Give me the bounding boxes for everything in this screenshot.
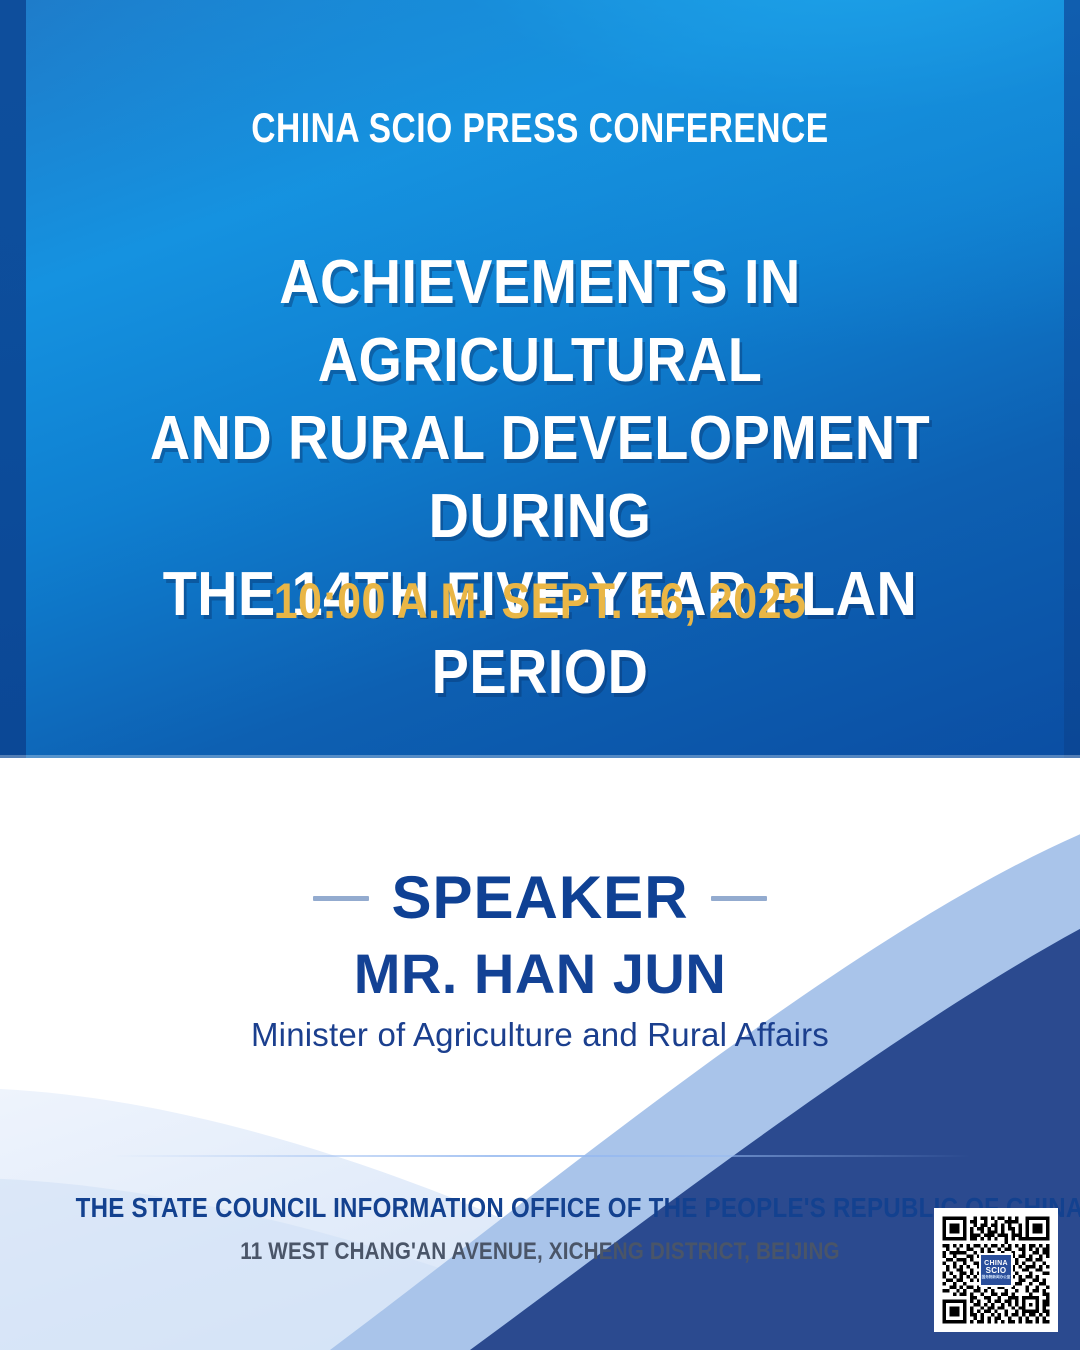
speaker-label: SPEAKER (391, 866, 688, 930)
event-kicker: CHINA SCIO PRESS CONFERENCE (108, 104, 972, 152)
dash-left-icon (313, 896, 369, 901)
event-datetime: 10:00 A.M. SEPT. 16, 2025 (76, 572, 1005, 630)
headline-line-1: ACHIEVEMENTS IN AGRICULTURAL (54, 244, 1026, 400)
qr-logo-line-3: 国务院新闻办公室 (982, 1276, 1011, 1280)
speaker-section: SPEAKER MR. HAN JUN Minister of Agricult… (0, 866, 1080, 1054)
footer-divider (110, 1155, 970, 1157)
headline-line-2: AND RURAL DEVELOPMENT DURING (54, 400, 1026, 556)
press-conference-poster: CHINA SCIO PRESS CONFERENCE ACHIEVEMENTS… (0, 0, 1080, 1350)
qr-logo-line-2: SCIO (986, 1267, 1007, 1275)
speaker-heading-row: SPEAKER (0, 866, 1080, 930)
organization-name: THE STATE COUNCIL INFORMATION OFFICE OF … (76, 1192, 1005, 1224)
organization-address: 11 WEST CHANG'AN AVENUE, XICHENG DISTRIC… (76, 1238, 1005, 1266)
footer-section: THE STATE COUNCIL INFORMATION OFFICE OF … (0, 1192, 1080, 1266)
qr-code-canvas: CHINA SCIO 国务院新闻办公室 (939, 1213, 1053, 1327)
hero-panel: CHINA SCIO PRESS CONFERENCE ACHIEVEMENTS… (0, 0, 1080, 758)
speaker-title: Minister of Agriculture and Rural Affair… (0, 1016, 1080, 1054)
speaker-name: MR. HAN JUN (0, 944, 1080, 1004)
qr-code[interactable]: CHINA SCIO 国务院新闻办公室 (934, 1208, 1058, 1332)
page-title: ACHIEVEMENTS IN AGRICULTURAL AND RURAL D… (0, 244, 1080, 712)
dash-right-icon (711, 896, 767, 901)
qr-center-logo: CHINA SCIO 国务院新闻办公室 (979, 1253, 1013, 1287)
